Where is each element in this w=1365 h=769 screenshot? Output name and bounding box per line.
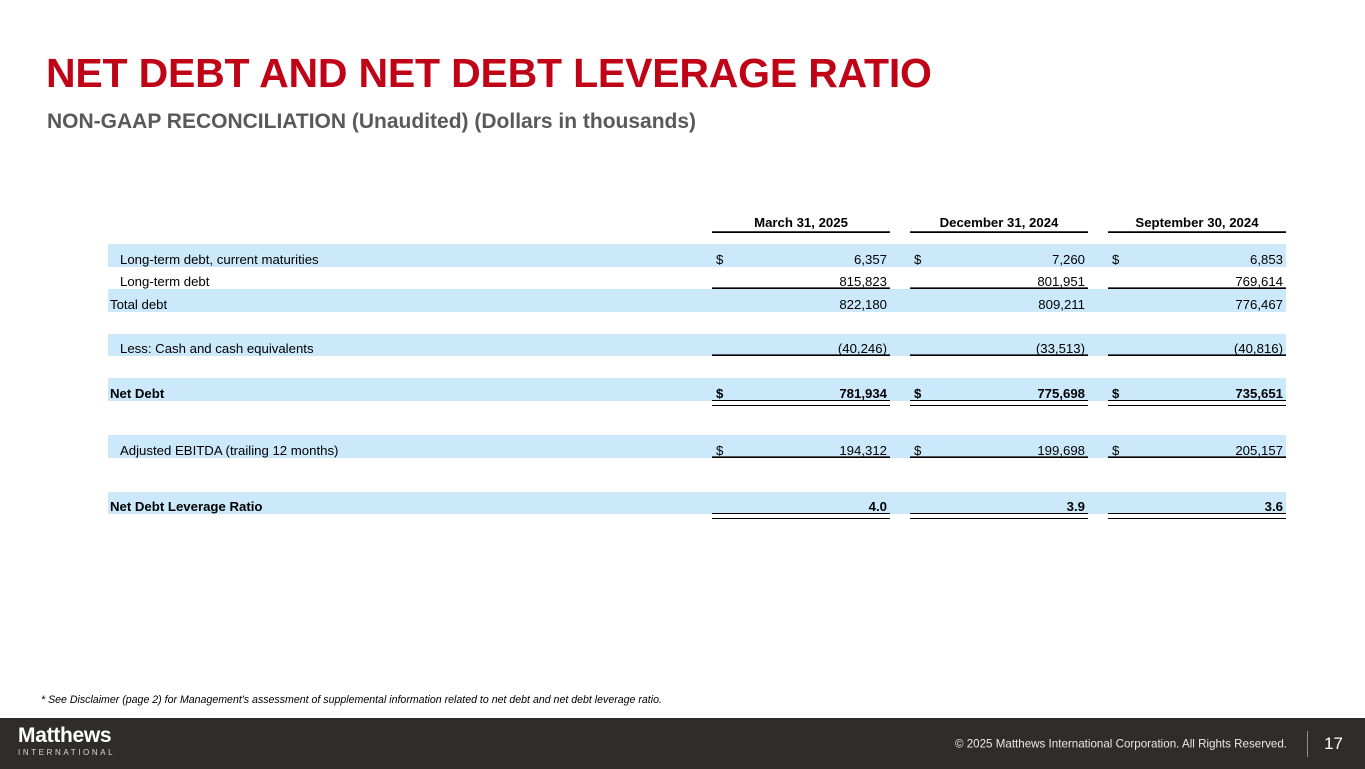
row-gap-2: [1088, 378, 1108, 401]
row-currency-2: [910, 267, 932, 290]
row-value-1: (40,246): [734, 334, 890, 357]
row-gap-2: [1088, 289, 1108, 312]
row-currency-3: [1108, 289, 1130, 312]
row-currency-2: [910, 492, 932, 515]
table-row-total-debt: Total debt 822,180 809,211 776,467: [108, 289, 1286, 312]
table-row-adjusted-ebitda: Adjusted EBITDA (trailing 12 months) $ 1…: [108, 435, 1286, 458]
row-value-2: 801,951: [932, 267, 1088, 290]
column-header-3: September 30, 2024: [1108, 206, 1286, 233]
spacer-cell: [108, 233, 1286, 244]
row-gap-1: [890, 435, 910, 458]
row-currency-3: [1108, 492, 1130, 515]
row-value-1: 4.0: [734, 492, 890, 515]
row-gap-2: [1088, 435, 1108, 458]
row-gap-2: [1088, 244, 1108, 267]
page-subtitle: NON-GAAP RECONCILIATION (Unaudited) (Dol…: [47, 110, 696, 134]
table-row-net-debt: Net Debt $ 781,934 $ 775,698 $ 735,651: [108, 378, 1286, 401]
spacer-cell: [108, 312, 1286, 323]
table-row-net-debt-leverage-ratio: Net Debt Leverage Ratio 4.0 3.9 3.6: [108, 492, 1286, 515]
row-value-3: 205,157: [1130, 435, 1286, 458]
row-label: Long-term debt, current maturities: [108, 244, 712, 267]
spacer-row: [108, 233, 1286, 244]
page-number: 17: [1324, 734, 1343, 754]
table-row-less-cash: Less: Cash and cash equivalents (40,246)…: [108, 334, 1286, 357]
table-row-long-term-debt-current: Long-term debt, current maturities $ 6,3…: [108, 244, 1286, 267]
row-label: Adjusted EBITDA (trailing 12 months): [108, 435, 712, 458]
disclaimer-footnote: * See Disclaimer (page 2) for Management…: [41, 694, 662, 706]
matthews-logo: Matthews INTERNATIONAL: [18, 725, 115, 757]
table-header-row: March 31, 2025 December 31, 2024 Septemb…: [108, 206, 1286, 233]
net-debt-reconciliation-table: March 31, 2025 December 31, 2024 Septemb…: [108, 206, 1286, 514]
row-value-3: 6,853: [1130, 244, 1286, 267]
column-header-1: March 31, 2025: [712, 206, 890, 233]
spacer-row: [108, 469, 1286, 492]
row-value-3: 776,467: [1130, 289, 1286, 312]
row-value-2: 3.9: [932, 492, 1088, 515]
row-label: Less: Cash and cash equivalents: [108, 334, 712, 357]
row-currency-3: $: [1108, 435, 1130, 458]
row-currency-3: [1108, 334, 1130, 357]
spacer-cell: [108, 367, 1286, 378]
row-value-1: 781,934: [734, 378, 890, 401]
row-value-3: (40,816): [1130, 334, 1286, 357]
row-gap-1: [890, 334, 910, 357]
row-value-1: 815,823: [734, 267, 890, 290]
spacer-cell: [108, 356, 1286, 367]
table-row-long-term-debt: Long-term debt 815,823 801,951 769,614: [108, 267, 1286, 290]
row-value-2: 199,698: [932, 435, 1088, 458]
row-gap-1: [890, 289, 910, 312]
spacer-row: [108, 356, 1286, 367]
row-value-1: 194,312: [734, 435, 890, 458]
header-gap-1: [890, 206, 910, 233]
row-currency-1: $: [712, 435, 734, 458]
spacer-row: [108, 367, 1286, 378]
row-label: Long-term debt: [108, 267, 712, 290]
row-value-2: 7,260: [932, 244, 1088, 267]
spacer-cell: [108, 412, 1286, 435]
row-currency-2: [910, 289, 932, 312]
row-currency-2: $: [910, 244, 932, 267]
row-gap-2: [1088, 334, 1108, 357]
spacer-cell: [108, 323, 1286, 334]
row-value-1: 822,180: [734, 289, 890, 312]
spacer-cell: [108, 458, 1286, 469]
spacer-cell: [108, 469, 1286, 492]
spacer-row: [108, 323, 1286, 334]
row-value-3: 3.6: [1130, 492, 1286, 515]
row-currency-2: [910, 334, 932, 357]
column-header-2: December 31, 2024: [910, 206, 1088, 233]
header-blank: [108, 206, 712, 233]
row-currency-1: [712, 492, 734, 515]
row-currency-2: $: [910, 435, 932, 458]
logo-tagline: INTERNATIONAL: [18, 748, 115, 757]
row-currency-1: [712, 334, 734, 357]
row-currency-1: $: [712, 378, 734, 401]
row-value-2: 809,211: [932, 289, 1088, 312]
row-label: Net Debt Leverage Ratio: [108, 492, 712, 515]
row-currency-3: [1108, 267, 1130, 290]
row-gap-1: [890, 378, 910, 401]
row-gap-2: [1088, 492, 1108, 515]
row-currency-3: $: [1108, 244, 1130, 267]
row-value-3: 769,614: [1130, 267, 1286, 290]
row-gap-1: [890, 267, 910, 290]
row-gap-2: [1088, 267, 1108, 290]
row-value-1: 6,357: [734, 244, 890, 267]
row-currency-1: $: [712, 244, 734, 267]
header-gap-2: [1088, 206, 1108, 233]
row-currency-2: $: [910, 378, 932, 401]
logo-wordmark: Matthews: [18, 725, 115, 747]
row-value-2: 775,698: [932, 378, 1088, 401]
footer-divider: [1307, 731, 1308, 757]
spacer-row: [108, 412, 1286, 435]
row-label: Total debt: [108, 289, 712, 312]
row-gap-1: [890, 244, 910, 267]
row-label: Net Debt: [108, 378, 712, 401]
row-currency-3: $: [1108, 378, 1130, 401]
spacer-row: [108, 312, 1286, 323]
row-value-2: (33,513): [932, 334, 1088, 357]
row-currency-1: [712, 267, 734, 290]
page-title: NET DEBT AND NET DEBT LEVERAGE RATIO: [46, 52, 932, 95]
copyright-text: © 2025 Matthews International Corporatio…: [955, 737, 1287, 750]
slide-footer: Matthews INTERNATIONAL © 2025 Matthews I…: [0, 718, 1365, 769]
spacer-row: [108, 458, 1286, 469]
row-currency-1: [712, 289, 734, 312]
row-value-3: 735,651: [1130, 378, 1286, 401]
row-gap-1: [890, 492, 910, 515]
